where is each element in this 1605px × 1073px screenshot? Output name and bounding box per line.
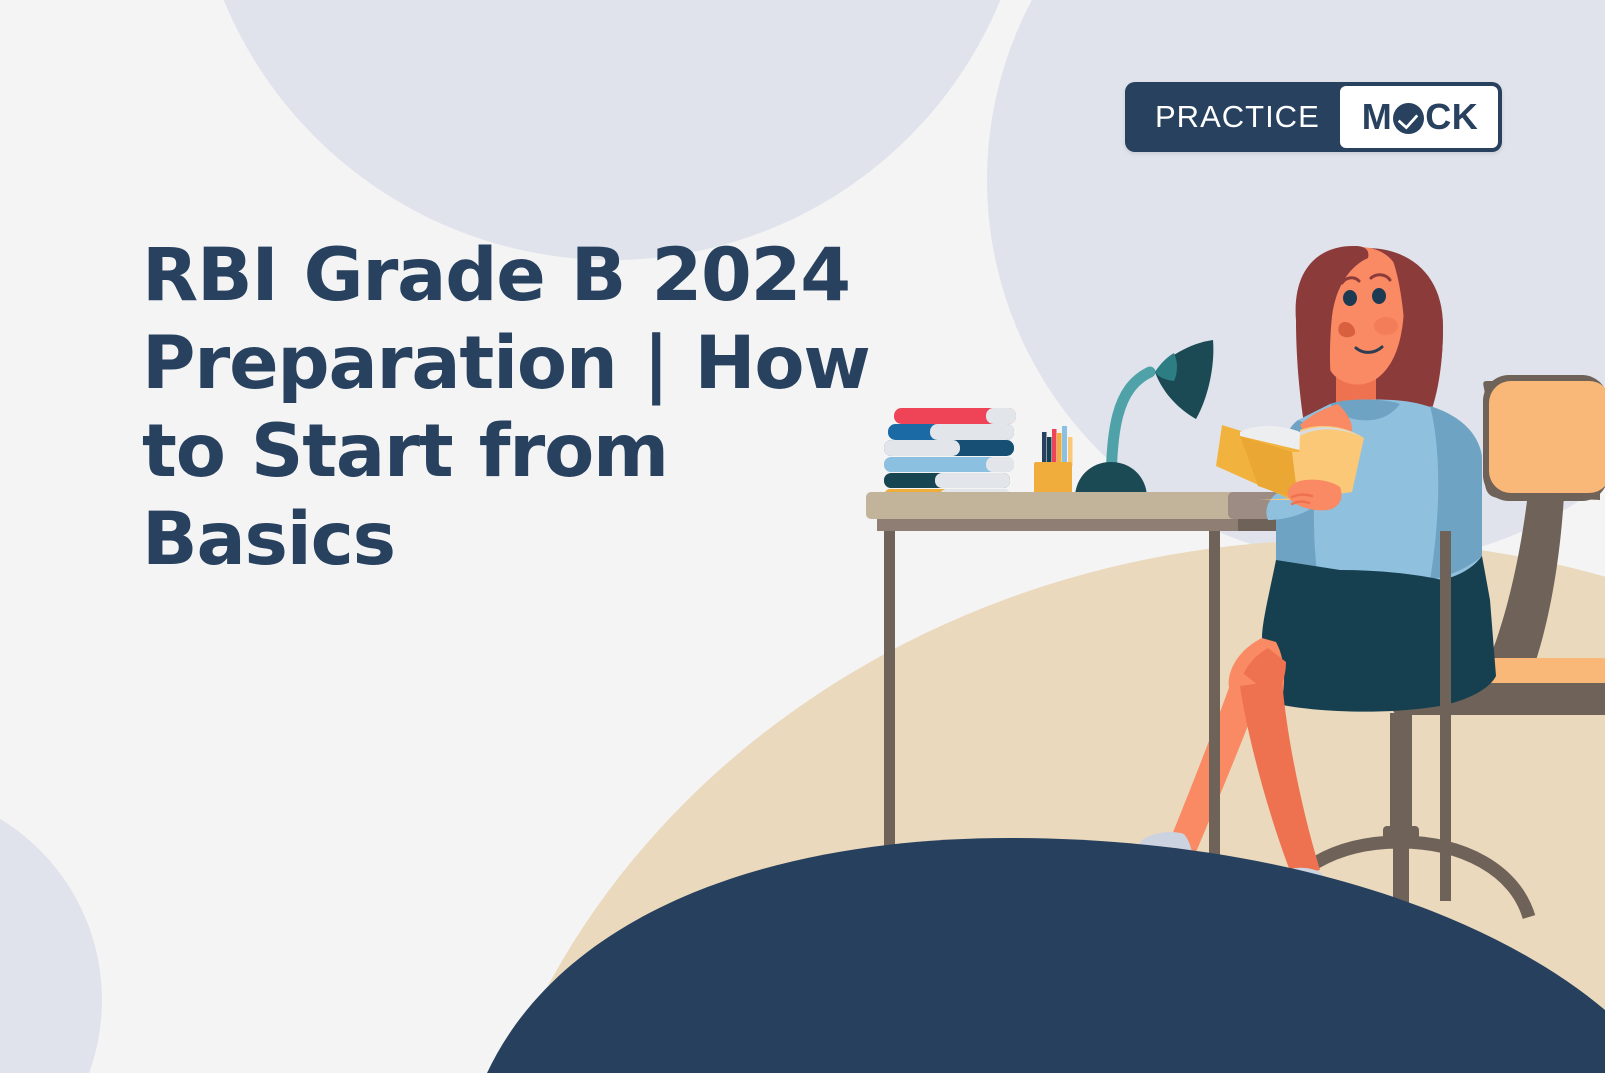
logo-word-mock: M CK [1340, 86, 1499, 148]
logo-word-practice: PRACTICE [1129, 86, 1340, 148]
title-line-1: RBI Grade B 2024 [142, 233, 850, 318]
check-circle-icon [1393, 103, 1424, 134]
logo-mock-ck: CK [1425, 96, 1478, 138]
banner-canvas: RBI Grade B 2024Preparation | Howto Star… [0, 0, 1605, 1073]
logo-mock-m: M [1362, 96, 1393, 138]
wave-navy [487, 838, 1605, 1073]
title-line-2: Preparation | How [142, 321, 870, 406]
title-line-4: Basics [142, 497, 395, 582]
practicemock-logo[interactable]: PRACTICE M CK [1125, 82, 1502, 152]
title-line-3: to Start from [142, 409, 668, 494]
page-title: RBI Grade B 2024Preparation | Howto Star… [142, 232, 882, 584]
title-heading: RBI Grade B 2024Preparation | Howto Star… [142, 232, 882, 584]
